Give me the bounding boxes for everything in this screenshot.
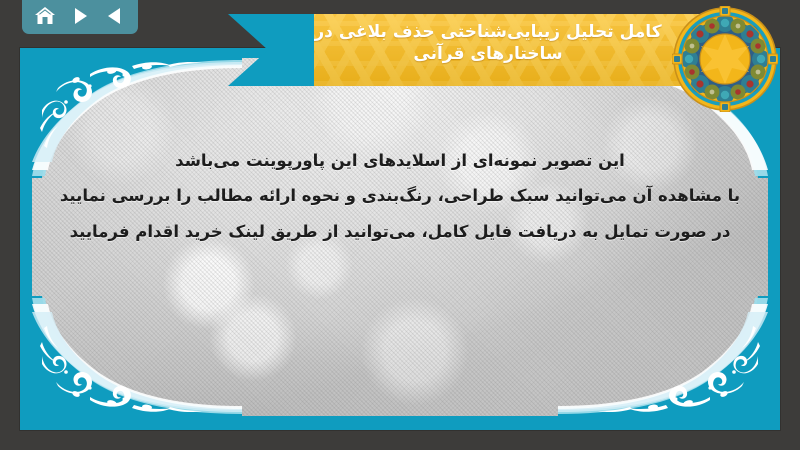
slide-navigation-bar[interactable] — [22, 0, 138, 34]
slide-frame: این تصویر نمونه‌ای از اسلایدهای این پاور… — [20, 48, 780, 430]
triangle-right-icon — [70, 6, 90, 26]
body-line: این تصویر نمونه‌ای از اسلایدهای این پاور… — [50, 143, 750, 178]
previous-button[interactable] — [101, 3, 129, 29]
home-button[interactable] — [31, 3, 59, 29]
page-title: کامل تحلیل زیبایی‌شناختی حذف بلاغی در سا… — [275, 14, 725, 66]
home-icon — [34, 6, 56, 26]
body-line: با مشاهده آن می‌توانید سبک طراحی، رنگ‌بن… — [50, 178, 750, 213]
slide-title-banner: کامل تحلیل زیبایی‌شناختی حذف بلاغی در سا… — [275, 14, 725, 86]
page-title-line-2: ساختارهای قرآنی — [285, 44, 691, 66]
slide-body-text: این تصویر نمونه‌ای از اسلایدهای این پاور… — [50, 143, 750, 249]
banner-chevron-connector — [228, 14, 314, 86]
next-button[interactable] — [66, 3, 94, 29]
slide-canvas: این تصویر نمونه‌ای از اسلایدهای این پاور… — [0, 0, 800, 450]
page-title-line-1: کامل تحلیل زیبایی‌شناختی حذف بلاغی در — [285, 22, 691, 44]
triangle-left-icon — [105, 6, 125, 26]
body-line: در صورت تمایل به دریافت فایل کامل، می‌تو… — [50, 214, 750, 249]
